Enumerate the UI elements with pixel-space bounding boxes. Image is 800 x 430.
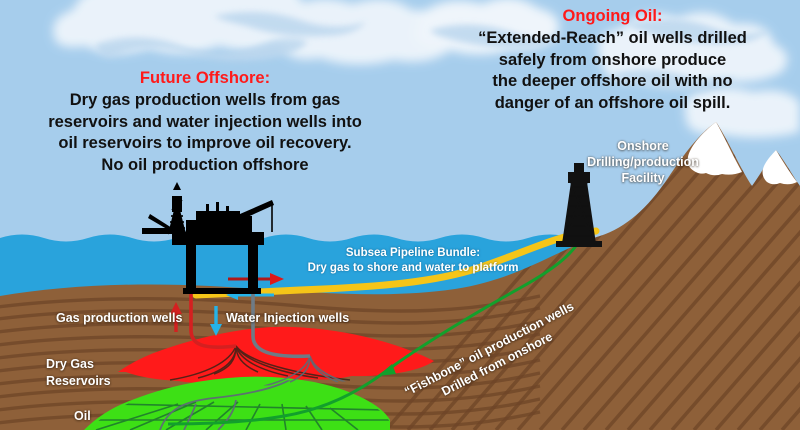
caption-ongoing-oil: Ongoing Oil: “Extended-Reach” oil wells … [430, 6, 795, 115]
label-onshore-facility-line2: Drilling/production [587, 155, 699, 169]
caption-ongoing-oil-line2: safely from onshore produce [499, 51, 726, 69]
caption-future-offshore: Future Offshore: Dry gas production well… [40, 68, 370, 177]
label-gas-production-wells: Gas production wells [56, 311, 182, 325]
label-onshore-facility-line1: Onshore [617, 139, 668, 153]
diagram-canvas: Future Offshore: Dry gas production well… [0, 0, 800, 430]
label-onshore-facility-line3: Facility [621, 171, 664, 185]
label-oil: Oil [74, 409, 91, 423]
caption-ongoing-oil-line4: danger of an offshore oil spill. [495, 94, 731, 112]
label-subsea-pipeline-line1: Subsea Pipeline Bundle: [346, 247, 480, 259]
label-subsea-pipeline-line2: Dry gas to shore and water to platform [308, 262, 519, 274]
caption-future-offshore-line1: Dry gas production wells from gas [70, 91, 340, 109]
caption-ongoing-oil-heading: Ongoing Oil: [430, 6, 795, 28]
caption-future-offshore-line3: oil reservoirs to improve oil recovery. [58, 134, 351, 152]
label-dry-gas-reservoirs-line2: Reservoirs [46, 374, 111, 388]
label-dry-gas-reservoirs: Dry Gas Reservoirs [46, 356, 146, 390]
label-dry-gas-reservoirs-line1: Dry Gas [46, 357, 94, 371]
caption-future-offshore-line4: No oil production offshore [101, 156, 308, 174]
label-water-injection-wells: Water Injection wells [226, 311, 349, 325]
caption-future-offshore-heading: Future Offshore: [40, 68, 370, 90]
caption-future-offshore-line2: reservoirs and water injection wells int… [48, 113, 362, 131]
caption-ongoing-oil-line3: the deeper offshore oil with no [492, 72, 732, 90]
label-onshore-facility: Onshore Drilling/production Facility [553, 138, 733, 186]
label-subsea-pipeline: Subsea Pipeline Bundle: Dry gas to shore… [268, 246, 558, 276]
caption-ongoing-oil-line1: “Extended-Reach” oil wells drilled [478, 29, 747, 47]
